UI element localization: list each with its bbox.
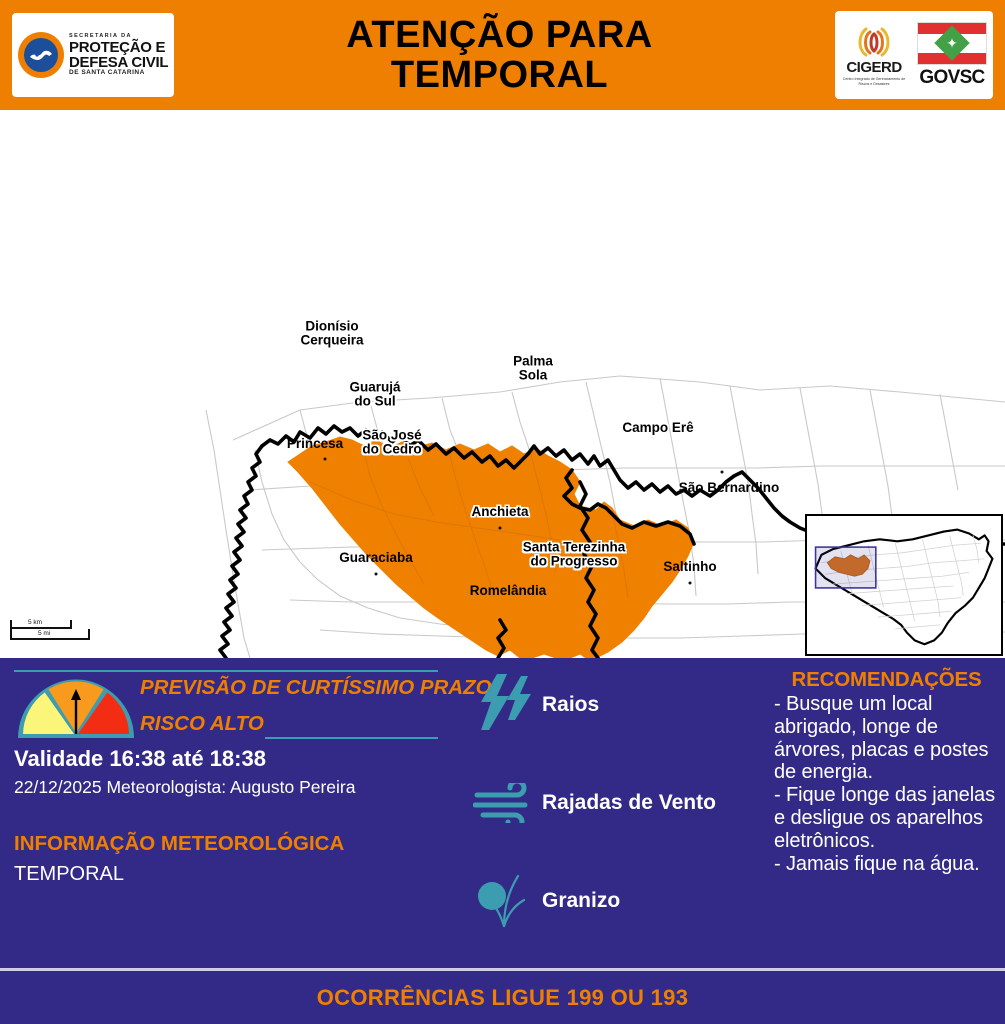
city-label-princesa: Princesa: [287, 437, 343, 451]
govsc-name-sc: SC: [960, 67, 985, 88]
hazard-label-granizo: Granizo: [542, 889, 620, 913]
govsc-name: GOVSC: [919, 67, 984, 89]
recommendation-item: - Busque um local abrigado, longe de árv…: [774, 693, 999, 784]
city-label-dionisio-cerqueira: Dionísio Cerqueira: [300, 320, 363, 349]
panel-top-rule: [14, 670, 438, 672]
meteorological-info-value: TEMPORAL: [14, 863, 124, 886]
hazard-list: Raios Rajadas de Vento: [468, 672, 758, 966]
city-dot-guaraciaba: [375, 573, 378, 576]
city-dot-princesa: [324, 458, 327, 461]
city-label-guaruja-do-sul: Guarujá do Sul: [349, 381, 400, 410]
panel-risk-rule: [265, 737, 438, 739]
logo-line-defesa-civil: DEFESA CIVIL: [69, 55, 168, 70]
recommendations-block: RECOMENDAÇÕES - Busque um local abrigado…: [774, 668, 999, 875]
recommendation-item: - Fique longe das janelas e desligue os …: [774, 784, 999, 852]
logo-line-protecao: PROTEÇÃO E: [69, 40, 168, 55]
city-dot-sao-bernardino: [721, 471, 724, 474]
risk-level-label: RISCO ALTO: [140, 712, 460, 736]
city-label-saltinho: Saltinho: [663, 560, 716, 574]
scale-bar-mi: 5 mi: [38, 630, 50, 637]
validity-text: Validade 16:38 até 18:38: [14, 746, 266, 772]
emergency-phone-text: OCORRÊNCIAS LIGUE 199 OU 193: [0, 985, 1005, 1011]
city-label-campo-ere: Campo Erê: [622, 421, 693, 435]
wind-gust-icon: [468, 783, 542, 823]
info-panel: PREVISÃO DE CURTÍSSIMO PRAZO RISCO ALTO …: [0, 658, 1005, 965]
city-label-guaraciaba: Guaraciaba: [339, 551, 413, 565]
partner-logos: CIGERD Centro Integrado de Gerenciamento…: [835, 11, 993, 99]
defesa-civil-seal-icon: [18, 32, 64, 78]
page-title-line-2: TEMPORAL: [164, 55, 835, 95]
govsc-logo: ✦ GOVSC: [915, 22, 989, 89]
cigerd-name: CIGERD: [846, 59, 901, 76]
santa-catarina-flag-icon: ✦: [917, 22, 987, 65]
alert-map: Dionísio Cerqueira Palma Sola Guarujá do…: [0, 110, 1005, 658]
city-dot-anchieta: [499, 527, 502, 530]
city-label-sao-bernardino: São Bernardino: [679, 481, 780, 495]
city-dot-saltinho: [689, 582, 692, 585]
forecast-kicker: PREVISÃO DE CURTÍSSIMO PRAZO: [140, 676, 460, 700]
recommendation-item: - Jamais fique na água.: [774, 853, 999, 876]
recommendations-title: RECOMENDAÇÕES: [774, 668, 999, 692]
footer-bar: OCORRÊNCIAS LIGUE 199 OU 193: [0, 965, 1005, 1024]
hazard-item-granizo: Granizo: [468, 868, 758, 934]
hazard-item-raios: Raios: [468, 672, 758, 738]
city-label-sao-jose-do-cedro: São José do Cedro: [362, 429, 421, 458]
page-title: ATENÇÃO PARA TEMPORAL: [164, 15, 835, 96]
city-label-palma-sola: Palma Sola: [513, 355, 553, 384]
govsc-name-gov: GOV: [919, 67, 959, 88]
hazard-label-raios: Raios: [542, 693, 599, 717]
hazard-item-rajadas-de-vento: Rajadas de Vento: [468, 770, 758, 836]
lightning-bolts-icon: [468, 674, 542, 736]
meteorological-info-title: INFORMAÇÃO METEOROLÓGICA: [14, 832, 344, 856]
santa-catarina-locator-map: [805, 514, 1003, 656]
logo-line-santa-catarina: DE SANTA CATARINA: [69, 70, 168, 77]
cigerd-logo: CIGERD Centro Integrado de Gerenciamento…: [839, 24, 909, 86]
city-label-romelandia: Romelândia: [470, 584, 547, 598]
risk-gauge: [14, 676, 138, 742]
header-bar: SECRETARIA DA PROTEÇÃO E DEFESA CIVIL DE…: [0, 0, 1005, 110]
cigerd-waves-icon: [852, 24, 896, 58]
cigerd-subtitle: Centro Integrado de Gerenciamento de Ris…: [839, 77, 909, 86]
alert-poster: SECRETARIA DA PROTEÇÃO E DEFESA CIVIL DE…: [0, 0, 1005, 1024]
hazard-label-rajadas-de-vento: Rajadas de Vento: [542, 791, 716, 815]
protecao-defesa-civil-sc-logo: SECRETARIA DA PROTEÇÃO E DEFESA CIVIL DE…: [12, 13, 174, 97]
scale-bar: 5 km 5 mi: [8, 618, 96, 640]
forecast-headline: PREVISÃO DE CURTÍSSIMO PRAZO RISCO ALTO: [140, 676, 460, 736]
city-label-santa-terezinha-do-progresso: Santa Terezinha do Progresso: [523, 541, 626, 570]
footer-divider: [0, 968, 1005, 971]
city-label-anchieta: Anchieta: [471, 505, 528, 519]
scale-bar-km: 5 km: [28, 619, 42, 626]
date-meteorologist-text: 22/12/2025 Meteorologista: Augusto Perei…: [14, 777, 355, 798]
hail-icon: [468, 870, 542, 932]
page-title-line-1: ATENÇÃO PARA: [164, 15, 835, 55]
